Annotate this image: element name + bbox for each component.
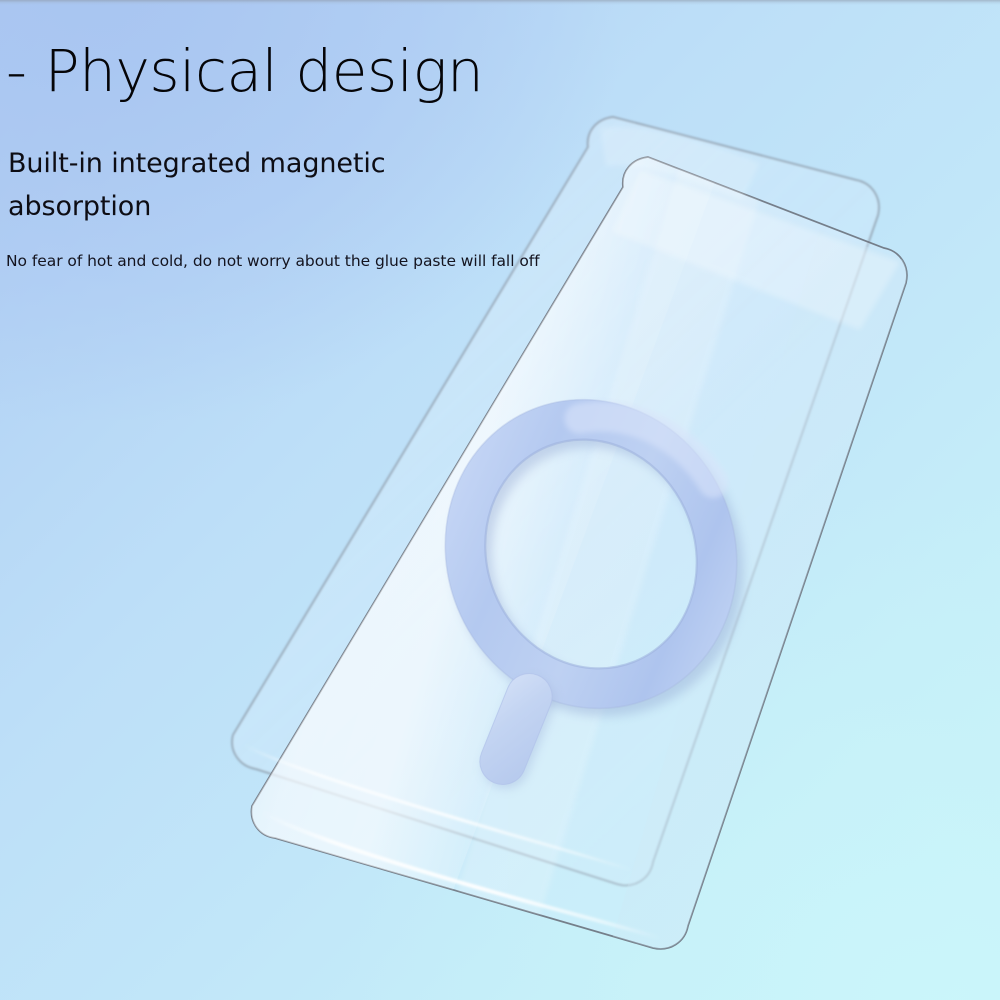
body-copy: No fear of hot and cold, do not worry ab…: [6, 250, 551, 272]
subheadline: Built-in integrated magnetic absorption: [8, 142, 438, 228]
product-marketing-banner: - Physical design Built-in integrated ma…: [0, 0, 1000, 1000]
headline: - Physical design: [6, 40, 483, 102]
